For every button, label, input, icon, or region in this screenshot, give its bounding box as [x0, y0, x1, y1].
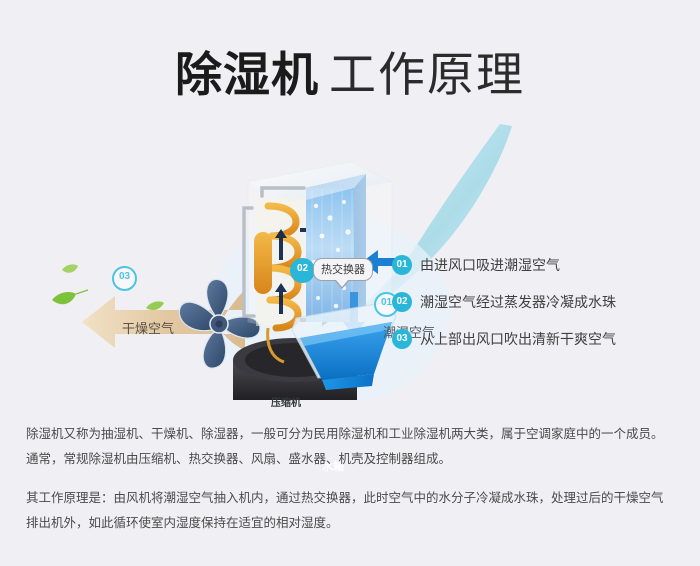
dry-air-label: 干燥空气: [122, 318, 174, 337]
legend-list: 01 由进风口吸进潮湿空气 02 潮湿空气经过蒸发器冷凝成水珠 03 从上部出风…: [392, 255, 692, 366]
body-copy: 除湿机又称为抽湿机、干燥机、除湿器，一般可分为民用除湿机和工业除湿机两大类，属于…: [26, 424, 676, 538]
legend-text-01: 由进风口吸进潮湿空气: [420, 255, 560, 275]
legend-text-03: 从上部出风口吹出清新干爽空气: [420, 329, 616, 349]
legend-text-02: 潮湿空气经过蒸发器冷凝成水珠: [420, 292, 616, 312]
paragraph-1-line-1: 除湿机又称为抽湿机、干燥机、除湿器，一般可分为民用除湿机和工业除湿机两大类，属于…: [26, 424, 676, 445]
page-root: 除湿机工作原理: [0, 0, 700, 566]
compressor-label: 压缩机: [268, 393, 304, 410]
paragraph-2-line-1: 其工作原理是：由风机将潮湿空气抽入机内，通过热交换器，此时空气中的水分子冷凝成水…: [26, 488, 676, 509]
legend-item: 02 潮湿空气经过蒸发器冷凝成水珠: [392, 292, 692, 312]
page-title-strong: 除湿机: [175, 48, 319, 101]
page-title-light: 工作原理: [329, 48, 525, 101]
diagram-badge-02: 02: [290, 258, 315, 283]
legend-item: 03 从上部出风口吹出清新干爽空气: [392, 329, 692, 349]
legend-item: 01 由进风口吸进潮湿空气: [392, 255, 692, 275]
paragraph-1-line-2: 通常，常规除湿机由压缩机、热交换器、风扇、盛水器、机壳及控制器组成。: [26, 449, 676, 470]
page-title: 除湿机工作原理: [0, 36, 700, 105]
paragraph-2-line-2: 排出机外，如此循环使室内湿度保持在适宜的相对湿度。: [26, 513, 676, 534]
legend-badge-01: 01: [392, 255, 412, 275]
heat-exchanger-callout: 热交换器: [313, 258, 373, 281]
legend-badge-02: 02: [392, 292, 412, 312]
legend-badge-03: 03: [392, 329, 412, 349]
diagram-badge-03: 03: [112, 266, 137, 291]
